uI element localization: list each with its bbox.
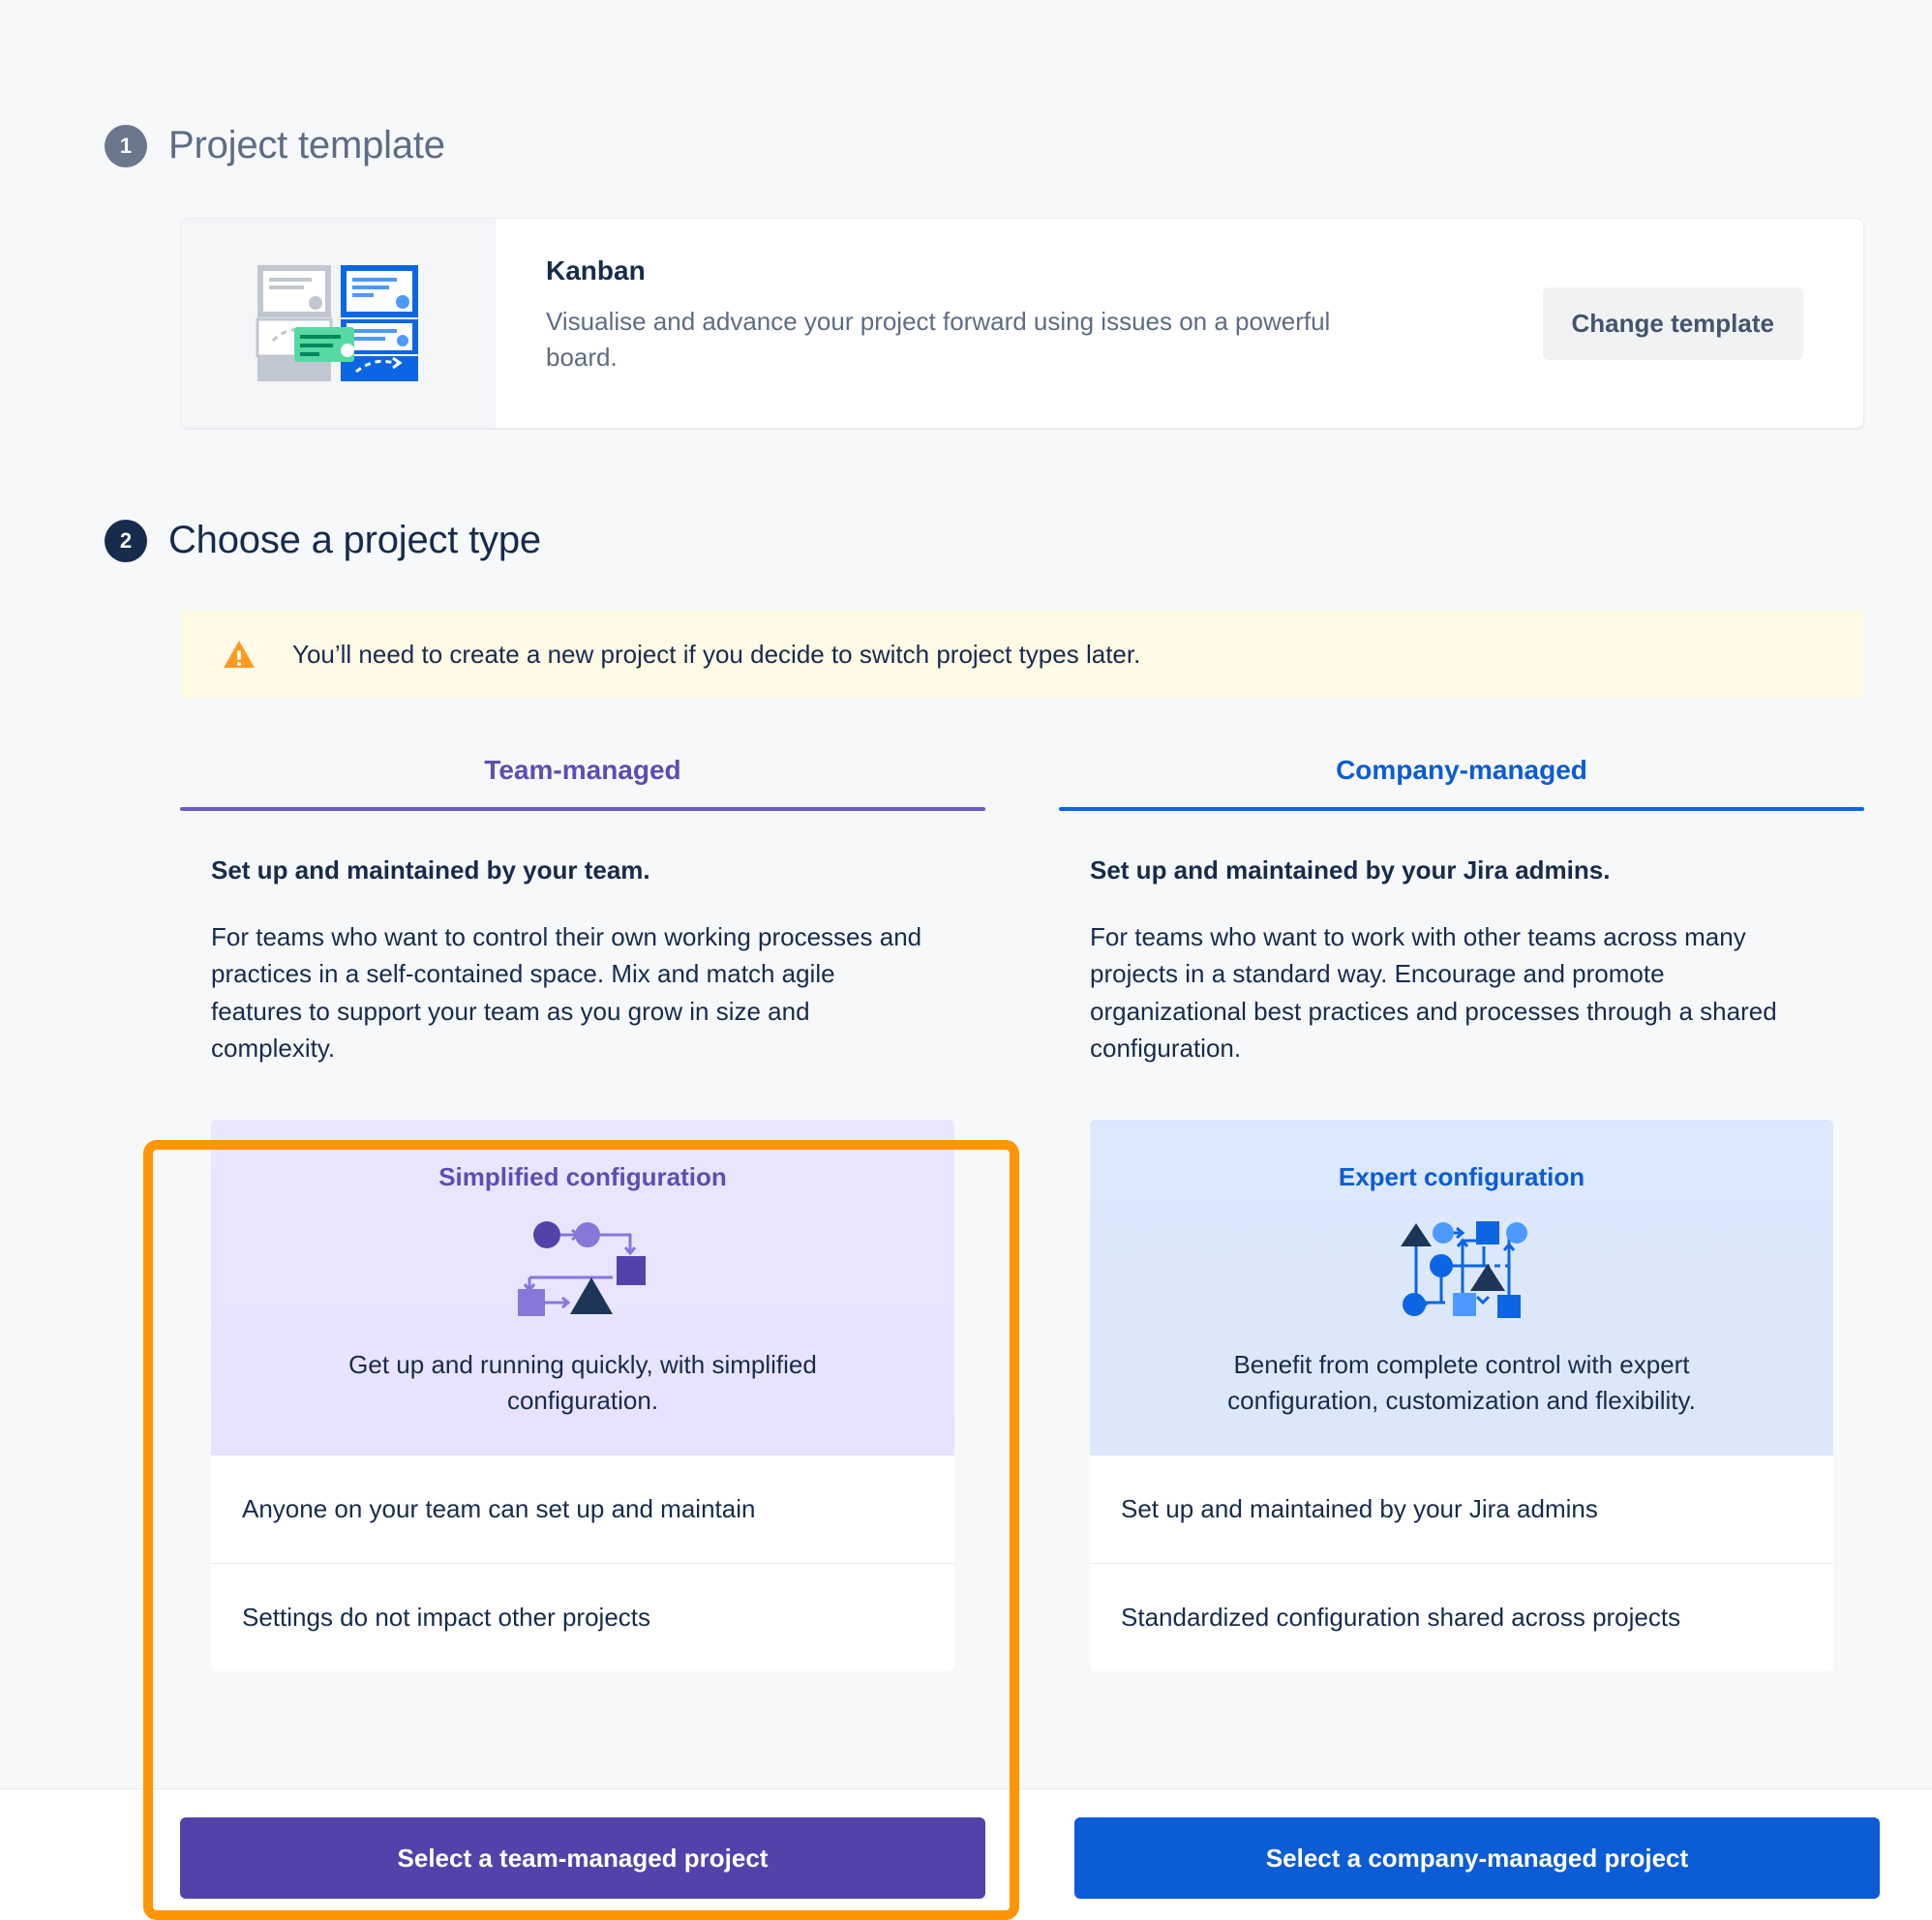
select-team-managed-project-button[interactable]: Select a team-managed project xyxy=(180,1817,985,1899)
company-managed-lead: Set up and maintained by your Jira admin… xyxy=(1090,855,1864,885)
template-action-area: Change template xyxy=(1543,219,1864,428)
expert-configuration-blurb: Benefit from complete control with exper… xyxy=(1090,1347,1833,1419)
warning-triangle-icon xyxy=(223,639,256,670)
expert-configuration-title: Expert configuration xyxy=(1090,1162,1833,1192)
company-managed-paragraph: For teams who want to work with other te… xyxy=(1090,918,1806,1067)
list-item: Set up and maintained by your Jira admin… xyxy=(1090,1455,1833,1564)
expert-configuration-panel: Expert configuration xyxy=(1090,1120,1833,1671)
select-company-managed-project-button[interactable]: Select a company-managed project xyxy=(1074,1817,1880,1899)
list-item: Anyone on your team can set up and maint… xyxy=(211,1455,954,1564)
project-type-warning-banner: You’ll need to create a new project if y… xyxy=(180,610,1864,699)
company-managed-feature-list: Set up and maintained by your Jira admin… xyxy=(1090,1455,1833,1671)
template-description: Visualise and advance your project forwa… xyxy=(546,304,1407,375)
tab-team-managed[interactable]: Team-managed xyxy=(180,755,985,807)
template-details: Kanban Visualise and advance your projec… xyxy=(496,219,1543,428)
simplified-configuration-title: Simplified configuration xyxy=(211,1162,954,1192)
simplified-configuration-header: Simplified configuration xyxy=(211,1120,954,1455)
simplified-configuration-panel: Simplified configuration xyxy=(211,1120,954,1671)
step-2-heading: 2 Choose a project type xyxy=(105,519,541,562)
team-managed-column: Team-managed Set up and maintained by yo… xyxy=(180,755,985,1671)
team-managed-feature-list: Anyone on your team can set up and maint… xyxy=(211,1455,954,1671)
team-managed-lead: Set up and maintained by your team. xyxy=(211,855,985,885)
step-1-title: Project template xyxy=(168,124,445,167)
step-2-title: Choose a project type xyxy=(168,519,541,562)
list-item: Settings do not impact other projects xyxy=(211,1564,954,1671)
expert-configuration-header: Expert configuration xyxy=(1090,1120,1833,1455)
warning-text: You’ll need to create a new project if y… xyxy=(292,640,1140,670)
tab-company-managed[interactable]: Company-managed xyxy=(1059,755,1864,807)
tab-company-managed-underline xyxy=(1059,807,1864,811)
step-1-badge: 1 xyxy=(105,125,147,167)
simplified-configuration-blurb: Get up and running quickly, with simplif… xyxy=(211,1347,954,1419)
step-2-badge: 2 xyxy=(105,520,147,562)
kanban-board-illustration xyxy=(252,259,426,387)
change-template-button[interactable]: Change template xyxy=(1543,287,1804,360)
list-item: Standardized configuration shared across… xyxy=(1090,1564,1833,1671)
create-project-page: 1 Project template xyxy=(0,0,1932,1920)
simplified-workflow-diagram-icon xyxy=(516,1217,649,1318)
selected-template-card[interactable]: Kanban Visualise and advance your projec… xyxy=(180,218,1864,429)
template-thumbnail xyxy=(181,219,496,428)
team-managed-paragraph: For teams who want to control their own … xyxy=(211,918,927,1067)
company-managed-column: Company-managed Set up and maintained by… xyxy=(1059,755,1864,1671)
step-1-heading: 1 Project template xyxy=(105,124,445,167)
expert-workflow-diagram-icon xyxy=(1395,1217,1528,1318)
template-name: Kanban xyxy=(546,255,1543,286)
tab-team-managed-underline xyxy=(180,807,985,811)
